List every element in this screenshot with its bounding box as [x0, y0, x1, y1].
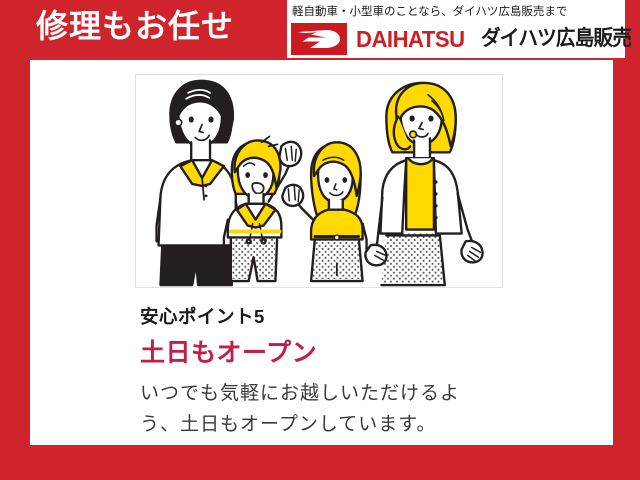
point-label: 安心ポイント5	[140, 305, 265, 329]
banner-header: 修理もお任せ 軽自動車・小型車のことなら、ダイハツ広島販売まで DAIHATSU…	[0, 0, 640, 60]
illustration-frame	[135, 74, 503, 288]
logo-tagline: 軽自動車・小型車のことなら、ダイハツ広島販売まで	[292, 4, 567, 20]
headline: 土日もオープン	[140, 337, 317, 369]
dealer-logo-block: 軽自動車・小型車のことなら、ダイハツ広島販売まで DAIHATSU ダイハツ広島…	[287, 0, 625, 58]
body-text-line-2: う、土日もオープンしています。	[140, 409, 540, 440]
family-illustration	[136, 75, 502, 287]
content-card: 安心ポイント5 土日もオープン いつでも気軽にお越しいただけるよ う、土日もオー…	[30, 60, 613, 445]
page-title: 修理もお任せ	[36, 6, 234, 46]
daihatsu-wordmark: DAIHATSU	[356, 26, 465, 52]
logo-row: DAIHATSU ダイハツ広島販売	[291, 23, 640, 55]
body-text-line-1: いつでも気軽にお越しいただけるよ	[140, 378, 540, 409]
dealer-name-label: ダイハツ広島販売	[481, 27, 631, 51]
advertisement-banner: 修理もお任せ 軽自動車・小型車のことなら、ダイハツ広島販売まで DAIHATSU…	[0, 0, 640, 480]
body-text: いつでも気軽にお越しいただけるよ う、土日もオープンしています。	[140, 378, 540, 440]
daihatsu-d-emblem-icon	[291, 23, 347, 55]
